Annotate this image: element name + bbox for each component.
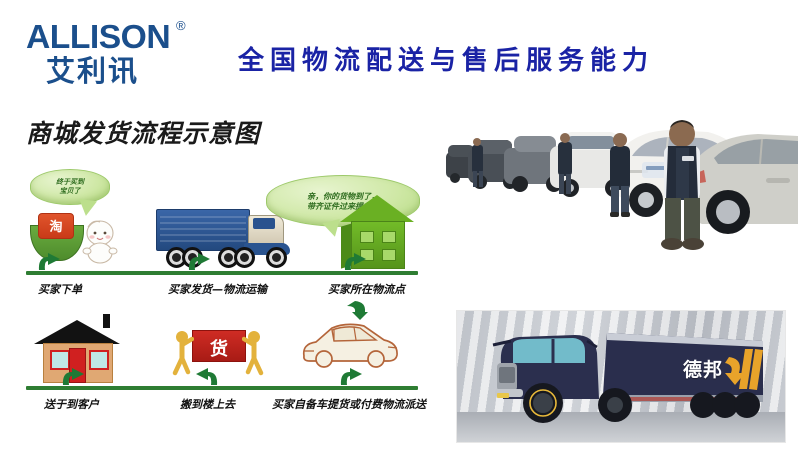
buyer-bubble-line-2: 宝贝了 [56, 187, 84, 196]
flow-step-label-carry-upstairs: 搬到楼上去 [180, 396, 235, 412]
semi-truck-icon [156, 207, 294, 269]
flow-arrow-icon [36, 251, 62, 271]
buyer-bubble-tail [77, 199, 97, 217]
flow-step-label-logistics-point: 买家所在物流点 [328, 281, 405, 297]
flow-step-label-self-pickup: 买家自备车提货或付费物流派送 [272, 396, 426, 412]
porter-left-icon [170, 330, 194, 376]
flow-arrow-icon [338, 366, 364, 386]
flow-arrow-icon [342, 251, 368, 271]
goods-box-icon: 淘 [38, 213, 74, 239]
slide-canvas: ALLISON ® 艾利讯 全国物流配送与售后服务能力 商城发货流程示意图 终于… [0, 0, 800, 450]
cargo-sign-label: 货 [193, 335, 245, 361]
buyer-speech-bubble: 终于买到 宝贝了 [30, 169, 110, 205]
brand-logo: ALLISON ® 艾利讯 [26, 20, 216, 88]
porter-right-icon [242, 330, 266, 376]
sketch-car-icon [298, 318, 402, 370]
logo-chinese-text: 艾利讯 [26, 55, 216, 87]
flow-row-top: 终于买到 宝贝了 淘 [8, 163, 438, 281]
registered-trademark-icon: ® [176, 18, 186, 33]
page-title: 全国物流配送与售后服务能力 [238, 40, 778, 77]
buyer-character-icon [80, 218, 120, 264]
logo-latin-text: ALLISON [26, 20, 220, 54]
deppon-truck-photo: 德邦 [456, 310, 786, 443]
goods-box-label: 淘 [39, 216, 73, 235]
flow-arrow-icon [186, 251, 212, 271]
flow-step-label-shipping: 买家发货—物流运输 [168, 281, 267, 297]
flow-arrow-icon [342, 300, 368, 320]
shipping-flow-diagram: 商城发货流程示意图 终于买到 宝贝了 淘 [8, 108, 438, 413]
deppon-brand-text: 德邦 [683, 355, 723, 382]
flow-arrow-icon [60, 366, 86, 386]
flow-step-label-buyer-order: 买家下单 [38, 281, 82, 297]
delivery-fleet-photo [446, 112, 798, 267]
flow-arrow-icon [194, 366, 220, 386]
flow-row-bottom: 货 [8, 308, 438, 426]
flow-diagram-title: 商城发货流程示意图 [26, 114, 260, 150]
flow-step-label-deliver-home: 送于到客户 [44, 396, 99, 412]
flow-baseline [26, 271, 418, 275]
flow-baseline [26, 386, 418, 390]
